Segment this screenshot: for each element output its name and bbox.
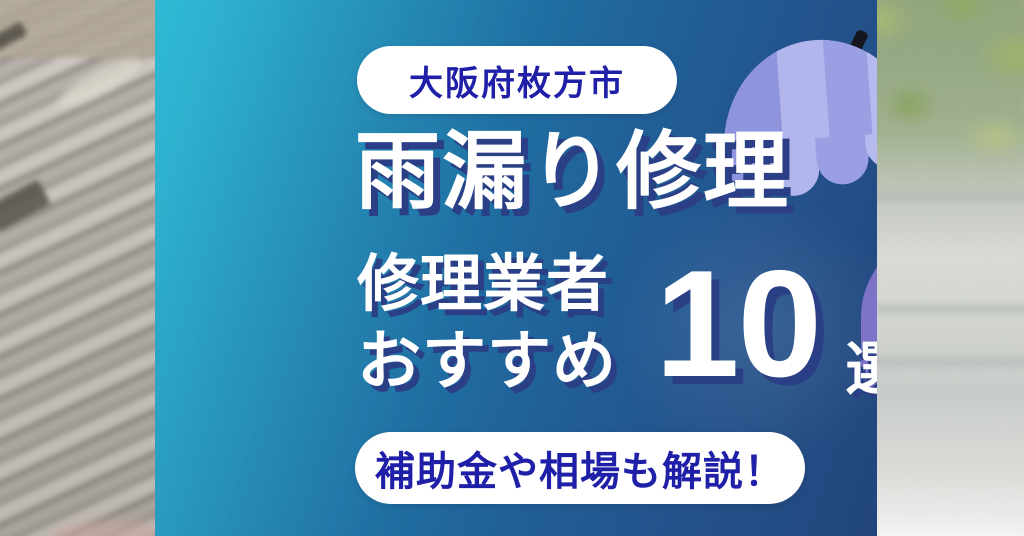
region-badge: 大阪府枚方市 bbox=[357, 46, 677, 114]
subheading-line-1: 修理業者 bbox=[357, 253, 609, 315]
center-panel: 大阪府枚方市 雨漏り修理 修理業者 おすすめ 10 選 補助金や相場も解説！ bbox=[155, 0, 877, 536]
banner-root: 大阪府枚方市 雨漏り修理 修理業者 おすすめ 10 選 補助金や相場も解説！ bbox=[0, 0, 1024, 536]
rainy-window-photo bbox=[859, 0, 1024, 536]
count-unit: 選 bbox=[845, 340, 877, 398]
roof-debris bbox=[52, 50, 147, 115]
footer-badge: 補助金や相場も解説！ bbox=[355, 432, 805, 504]
region-badge-label: 大阪府枚方市 bbox=[409, 56, 625, 105]
footer-badge-label: 補助金や相場も解説！ bbox=[375, 439, 785, 497]
roof-dark-patch bbox=[0, 179, 51, 231]
count-number: 10 bbox=[655, 248, 820, 400]
rain-streaks bbox=[859, 0, 1024, 536]
subheading-line-2: おすすめ bbox=[357, 330, 617, 394]
page-title: 雨漏り修理 bbox=[355, 130, 790, 215]
